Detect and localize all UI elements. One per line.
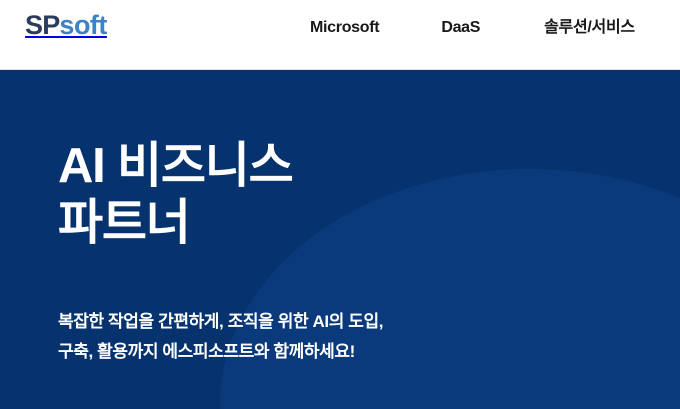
logo-spsoft[interactable]: SPsoft xyxy=(25,12,107,39)
hero-title-line-1: AI 비즈니스 xyxy=(58,138,293,195)
logo-text-secondary: soft xyxy=(59,10,107,40)
hero-banner: AI 비즈니스 파트너 복잡한 작업을 간편하게, 조직을 위한 AI의 도입,… xyxy=(0,70,680,409)
logo-text-primary: SP xyxy=(25,10,59,40)
nav-item-microsoft[interactable]: Microsoft xyxy=(310,20,379,36)
nav-item-daas[interactable]: DaaS xyxy=(441,20,480,36)
hero-subtitle: 복잡한 작업을 간편하게, 조직을 위한 AI의 도입, 구축, 활용까지 에스… xyxy=(58,307,383,367)
hero-subtitle-line-2: 구축, 활용까지 에스피소프트와 함께하세요! xyxy=(58,337,383,367)
hero-content: AI 비즈니스 파트너 복잡한 작업을 간편하게, 조직을 위한 AI의 도입,… xyxy=(58,70,658,409)
hero-title-line-2: 파트너 xyxy=(58,195,293,252)
hero-subtitle-line-1: 복잡한 작업을 간편하게, 조직을 위한 AI의 도입, xyxy=(58,307,383,337)
main-navigation: Microsoft DaaS 솔루션/서비스 xyxy=(300,0,635,56)
site-header: SPsoft Microsoft DaaS 솔루션/서비스 xyxy=(0,0,680,70)
page-root: SPsoft Microsoft DaaS 솔루션/서비스 AI 비즈니스 파트… xyxy=(0,0,680,409)
hero-title: AI 비즈니스 파트너 xyxy=(58,138,293,252)
nav-item-solutions-services[interactable]: 솔루션/서비스 xyxy=(544,20,635,36)
